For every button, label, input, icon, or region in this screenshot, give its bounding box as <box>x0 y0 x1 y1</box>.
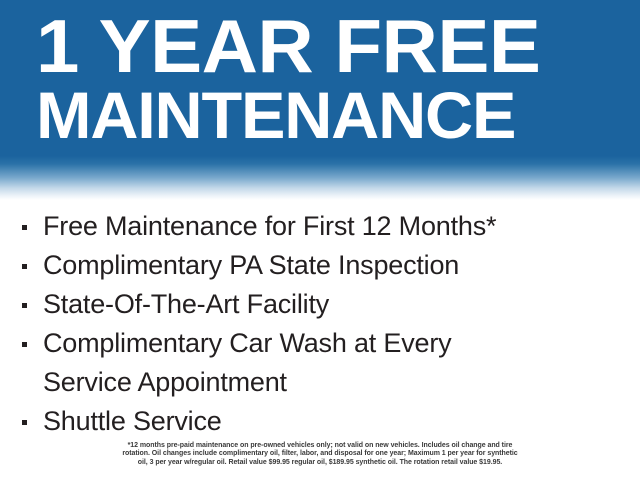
headline-banner-inner: 1 YEAR FREE MAINTENANCE <box>36 10 620 147</box>
list-item-label: Service Appointment <box>43 364 287 401</box>
disclaimer-line: *12 months pre-paid maintenance on pre-o… <box>30 442 610 450</box>
bullet-square-icon <box>22 420 27 425</box>
promo-card: 1 YEAR FREE MAINTENANCE Free Maintenance… <box>0 0 640 480</box>
headline-line-1: 1 YEAR FREE <box>36 10 640 82</box>
headline-line-2: MAINTENANCE <box>36 84 626 147</box>
bullet-square-icon <box>22 342 27 347</box>
disclaimer-line: rotation. Oil changes include compliment… <box>30 450 610 458</box>
bullet-square-icon <box>22 225 27 230</box>
bullet-square-icon <box>22 264 27 269</box>
list-item: State-Of-The-Art Facility <box>22 286 640 323</box>
list-item-label: Complimentary PA State Inspection <box>43 247 459 284</box>
list-item: Shuttle Service <box>22 403 640 440</box>
list-item-label: State-Of-The-Art Facility <box>43 286 329 323</box>
bullet-square-icon <box>22 303 27 308</box>
headline-banner: 1 YEAR FREE MAINTENANCE <box>0 0 640 200</box>
bullet-spacer <box>22 381 27 386</box>
list-item: Free Maintenance for First 12 Months* <box>22 208 640 245</box>
list-item-continuation: Service Appointment <box>22 364 640 401</box>
list-item-label: Complimentary Car Wash at Every <box>43 325 451 362</box>
disclaimer-line: oil, 3 per year w/regular oil. Retail va… <box>30 459 610 467</box>
list-item-label: Free Maintenance for First 12 Months* <box>43 208 496 245</box>
disclaimer: *12 months pre-paid maintenance on pre-o… <box>0 442 640 481</box>
list-item: Complimentary Car Wash at Every <box>22 325 640 362</box>
list-item: Complimentary PA State Inspection <box>22 247 640 284</box>
offer-list: Free Maintenance for First 12 Months* Co… <box>0 200 640 442</box>
list-item-label: Shuttle Service <box>43 403 222 440</box>
